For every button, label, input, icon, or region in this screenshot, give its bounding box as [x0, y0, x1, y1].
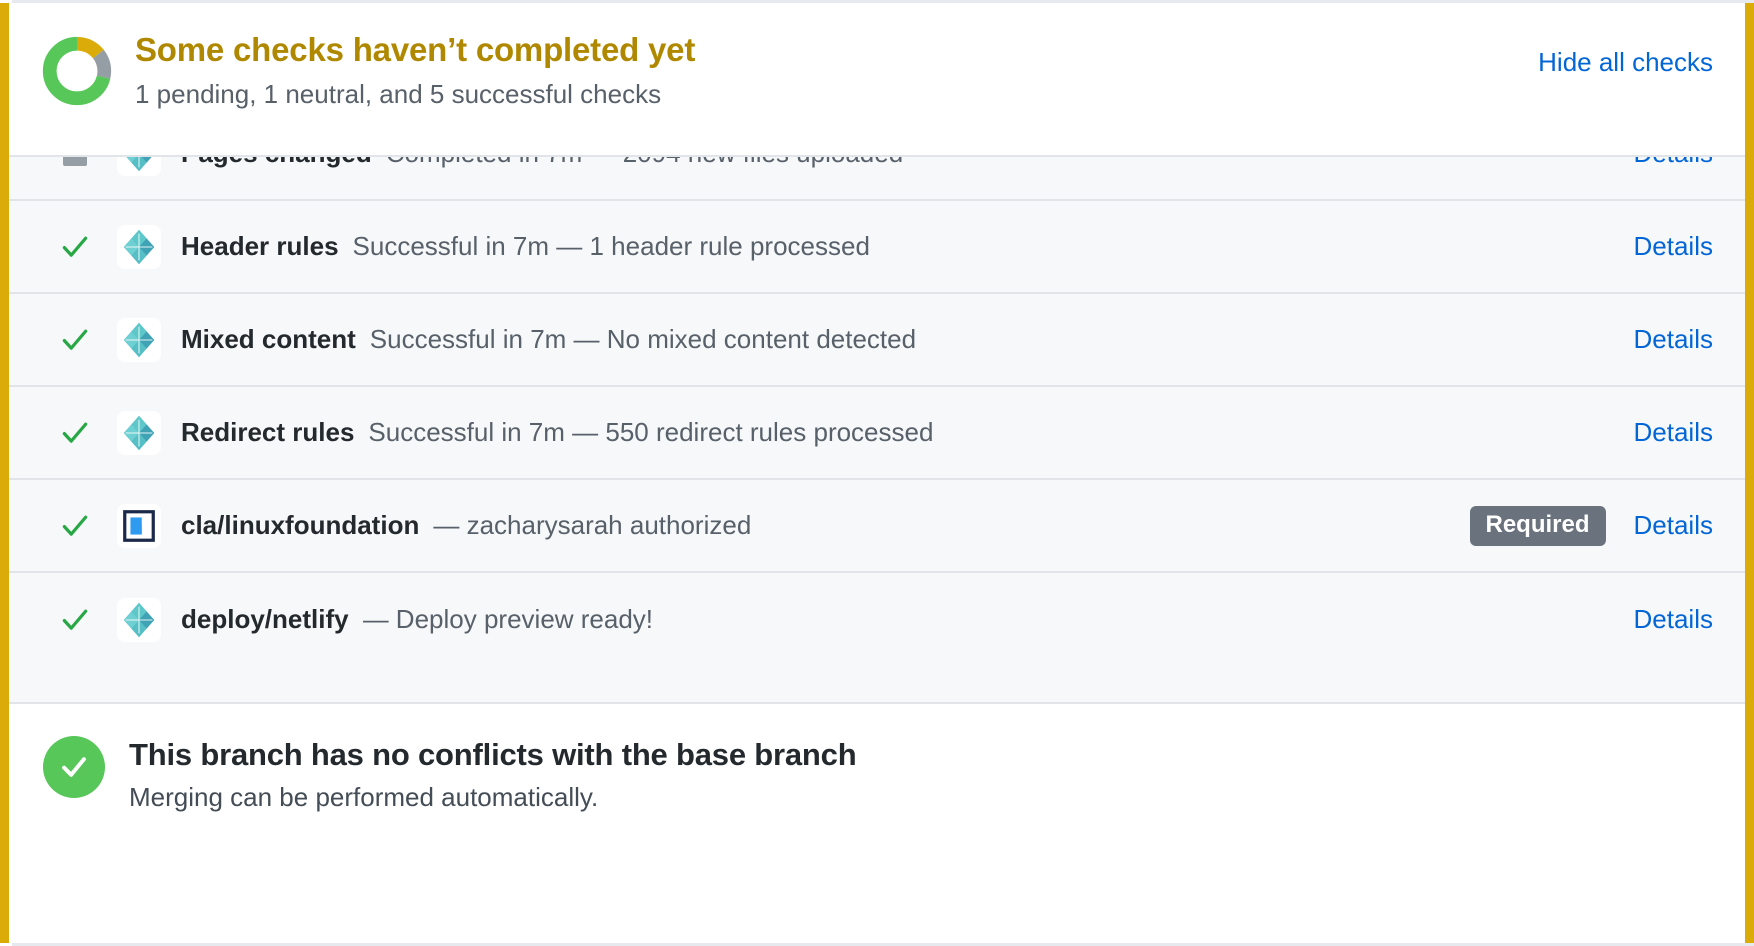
details-link[interactable]: Details: [1634, 604, 1713, 635]
netlify-icon: [117, 598, 161, 642]
hide-all-checks-link[interactable]: Hide all checks: [1538, 47, 1713, 78]
checks-rows-container: Pages changed Completed in 7m — 2094 new…: [9, 157, 1745, 666]
netlify-icon: [117, 157, 161, 176]
details-link[interactable]: Details: [1634, 324, 1713, 355]
check-description: Successful in 7m — No mixed content dete…: [370, 324, 916, 355]
details-link[interactable]: Details: [1634, 231, 1713, 262]
status-badge: Required: [1470, 506, 1606, 546]
merge-state-title: This branch has no conflicts with the ba…: [129, 736, 856, 773]
details-link[interactable]: Details: [1634, 417, 1713, 448]
netlify-icon: [117, 318, 161, 362]
check-description: Completed in 7m — 2094 new files uploade…: [386, 157, 903, 169]
checks-donut-chart: [41, 35, 113, 107]
merge-state-text: This branch has no conflicts with the ba…: [129, 734, 856, 814]
checks-panel: Some checks haven’t completed yet 1 pend…: [0, 3, 1754, 943]
table-row[interactable]: deploy/netlify — Deploy preview ready! D…: [9, 573, 1745, 666]
checks-status-header: Some checks haven’t completed yet 1 pend…: [9, 3, 1745, 155]
check-success-icon: [57, 325, 93, 355]
checks-status-title: Some checks haven’t completed yet: [135, 31, 1711, 70]
merge-state-subtitle: Merging can be performed automatically.: [129, 781, 856, 814]
table-row[interactable]: Pages changed Completed in 7m — 2094 new…: [9, 157, 1745, 201]
details-link[interactable]: Details: [1634, 510, 1713, 541]
checks-scroll-viewport[interactable]: Pages changed Completed in 7m — 2094 new…: [9, 157, 1745, 702]
check-success-icon: [57, 418, 93, 448]
check-name: Header rules: [181, 231, 339, 262]
check-name: Pages changed: [181, 157, 372, 169]
check-name: Mixed content: [181, 324, 356, 355]
netlify-icon: [117, 411, 161, 455]
check-name: cla/linuxfoundation: [181, 510, 419, 541]
check-success-icon: [57, 511, 93, 541]
check-description: Successful in 7m — 550 redirect rules pr…: [368, 417, 933, 448]
table-row[interactable]: Mixed content Successful in 7m — No mixe…: [9, 294, 1745, 387]
check-name: deploy/netlify: [181, 604, 349, 635]
table-row[interactable]: Header rules Successful in 7m — 1 header…: [9, 201, 1745, 294]
check-success-icon: [57, 605, 93, 635]
details-link[interactable]: Details: [1634, 157, 1713, 169]
cla-linuxfoundation-icon: [117, 504, 161, 548]
check-name: Redirect rules: [181, 417, 354, 448]
check-description: Successful in 7m — 1 header rule process…: [353, 231, 870, 262]
table-row[interactable]: cla/linuxfoundation — zacharysarah autho…: [9, 480, 1745, 573]
checks-list: Pages changed Completed in 7m — 2094 new…: [9, 155, 1745, 702]
checks-status-summary: 1 pending, 1 neutral, and 5 successful c…: [135, 78, 1711, 111]
table-row[interactable]: Redirect rules Successful in 7m — 550 re…: [9, 387, 1745, 480]
netlify-icon: [117, 225, 161, 269]
pr-merge-status-screen: Some checks haven’t completed yet 1 pend…: [0, 0, 1754, 946]
status-text-block: Some checks haven’t completed yet 1 pend…: [135, 29, 1711, 110]
check-circle-icon: [43, 736, 105, 798]
neutral-square-icon: [57, 157, 93, 166]
check-description: — Deploy preview ready!: [363, 604, 653, 635]
check-success-icon: [57, 232, 93, 262]
merge-state-section: This branch has no conflicts with the ba…: [9, 702, 1745, 943]
check-description: — zacharysarah authorized: [433, 510, 751, 541]
